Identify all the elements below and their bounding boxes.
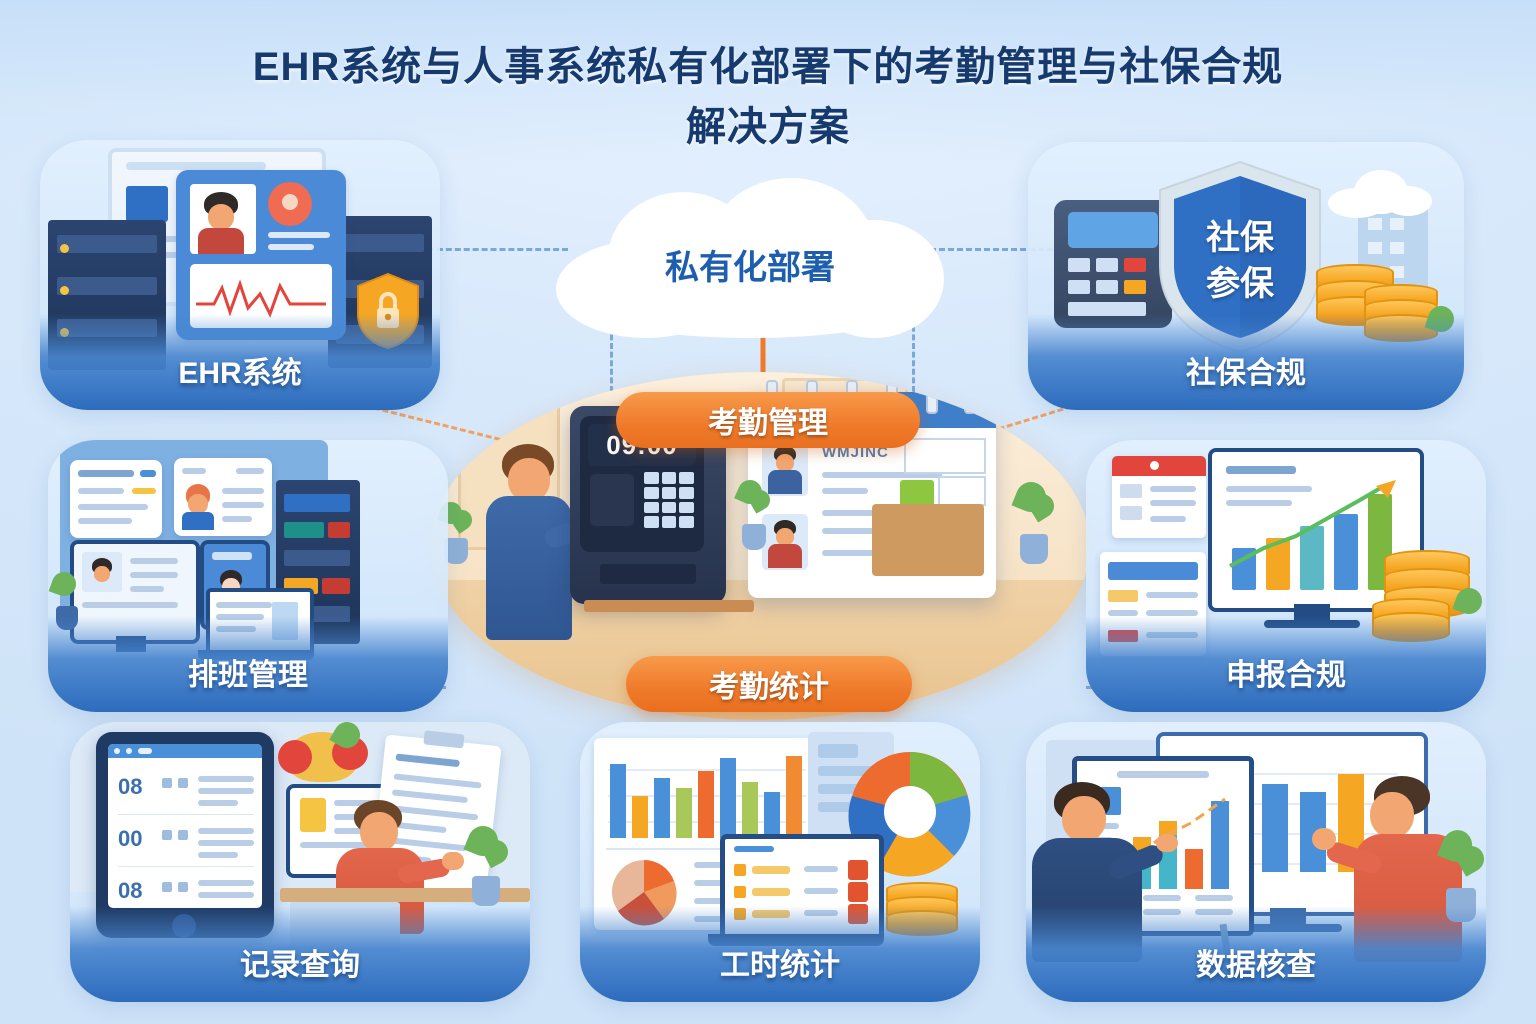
infographic-canvas: EHR系统与人事系统私有化部署下的考勤管理与社保合规 解决方案 09: [0, 0, 1536, 1024]
node-label-staff-records: 排班管理: [48, 650, 448, 694]
node-record-query[interactable]: 08 00: [70, 722, 530, 1002]
record-doc-2: [174, 458, 272, 536]
office-cabinet: [872, 504, 984, 576]
shield-text-line-2: 参保: [1156, 256, 1324, 305]
cloud-label: 私有化部署: [556, 240, 944, 289]
growth-trend-arrow: [1226, 478, 1404, 578]
roster-grid-small: [938, 476, 986, 506]
tablet-list-row: 08: [118, 770, 254, 810]
node-label-ehr-system: EHR系统: [40, 348, 440, 392]
employee-body: [486, 496, 572, 640]
office-plant-right: [1006, 482, 1058, 574]
shield-text-line-1: 社保: [1156, 210, 1324, 259]
office-plant-mid: [730, 480, 774, 558]
tablet-row-value: 08: [118, 774, 142, 800]
node-label-data-review: 数据核查: [1026, 940, 1486, 984]
tablet-screen: 08 00: [108, 744, 262, 908]
node-declare-compliance[interactable]: 申报合规: [1086, 440, 1486, 712]
record-doc-1: [70, 460, 162, 538]
page-title-line-1: EHR系统与人事系统私有化部署下的考勤管理与社保合规: [138, 44, 1398, 90]
terminal-card-reader[interactable]: [590, 474, 634, 526]
backdrop-cloud-icon: [1328, 166, 1438, 216]
node-social-compliance[interactable]: 社保 参保 社保合规: [1028, 142, 1464, 410]
office-plant-icon: [458, 826, 514, 912]
tablet-row-value: 00: [118, 826, 142, 852]
node-label-social-compliance: 社保合规: [1028, 348, 1464, 392]
office-desk: [584, 600, 754, 612]
node-label-record-query: 记录查询: [70, 940, 530, 984]
terminal-speaker: [600, 564, 696, 584]
node-label-declare-compliance: 申报合规: [1086, 650, 1486, 694]
node-data-review[interactable]: 数据核查: [1026, 722, 1486, 1002]
terminal-keypad[interactable]: [644, 472, 694, 528]
node-staff-records[interactable]: 排班管理: [48, 440, 448, 712]
tablet-list-row: 00: [118, 822, 254, 862]
pos-terminal: [1054, 200, 1172, 328]
node-label-work-hours: 工时统计: [580, 940, 980, 984]
folder-card: [1112, 456, 1206, 538]
ecg-waveform-icon: [196, 278, 326, 318]
roster-text-line: [822, 488, 868, 494]
connector-ehr-to-cloud: [428, 248, 568, 251]
tablet-row-value: 08: [118, 878, 142, 904]
roster-grid: [904, 438, 986, 474]
tablet-list-row: 08: [118, 874, 254, 908]
badge-attendance-statistics[interactable]: 考勤统计: [626, 656, 912, 712]
private-deployment-cloud: 私有化部署: [556, 178, 944, 338]
node-ehr-system[interactable]: EHR系统: [40, 140, 440, 410]
node-work-hours[interactable]: 工时统计: [580, 722, 980, 1002]
work-hours-bar-chart: [608, 752, 808, 838]
employee-figure: [482, 444, 578, 640]
badge-attendance-management[interactable]: 考勤管理: [616, 392, 920, 448]
